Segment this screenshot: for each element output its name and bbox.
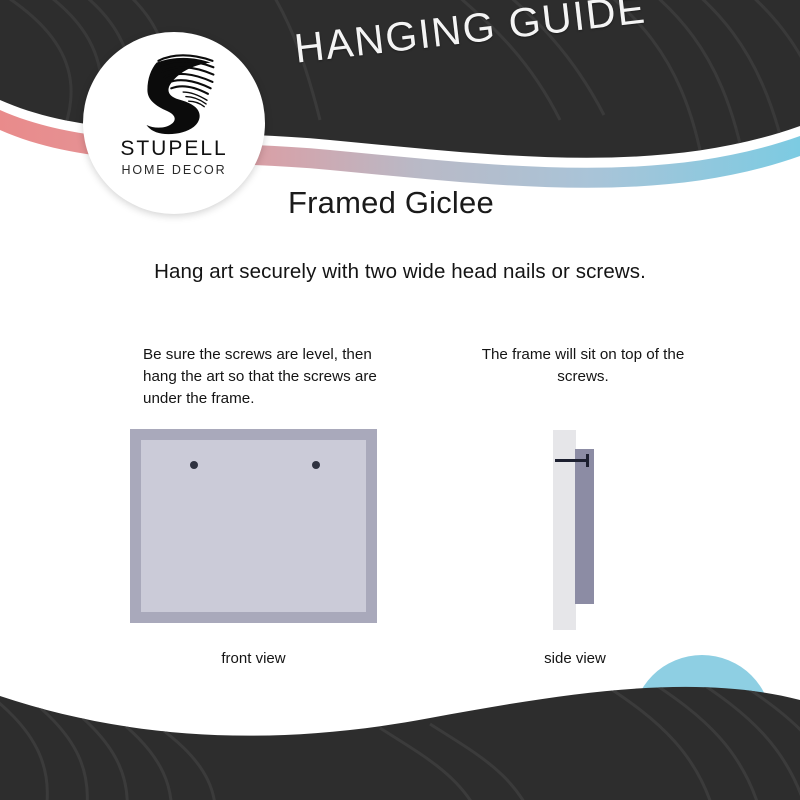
screw-dot-right-icon (312, 461, 320, 469)
front-view-caption: front view (130, 650, 377, 667)
front-view-diagram (130, 429, 377, 623)
hardware-free-hanging-badge: hardware free hanging (632, 655, 772, 795)
side-view-diagram (553, 430, 623, 630)
product-type-heading: Framed Giclee (288, 185, 494, 221)
stupell-s-swoosh-icon (128, 48, 220, 136)
lead-instruction-text: Hang art securely with two wide head nai… (0, 260, 800, 284)
badge-line-3: hanging (665, 738, 740, 765)
front-view-artwork (141, 440, 366, 612)
page-title: HANGING GUIDE (292, 0, 715, 73)
badge-line-2: free (684, 712, 720, 739)
logo-brand-name: STUPELL (120, 138, 227, 159)
side-view-note: The frame will sit on top of the screws. (468, 344, 698, 388)
badge-line-1: hardware (658, 685, 746, 712)
brand-logo-badge: STUPELL HOME DECOR (83, 32, 265, 214)
screw-dot-left-icon (190, 461, 198, 469)
logo-brand-subtitle: HOME DECOR (121, 164, 226, 177)
side-view-caption: side view (470, 650, 680, 667)
front-view-note: Be sure the screws are level, then hang … (143, 344, 403, 410)
nail-shaft-icon (555, 459, 588, 462)
nail-head-icon (586, 454, 589, 467)
hanging-guide-page: HANGING GUIDE STUPELL HOME DECOR Fra (0, 0, 800, 800)
side-view-frame (575, 449, 594, 604)
